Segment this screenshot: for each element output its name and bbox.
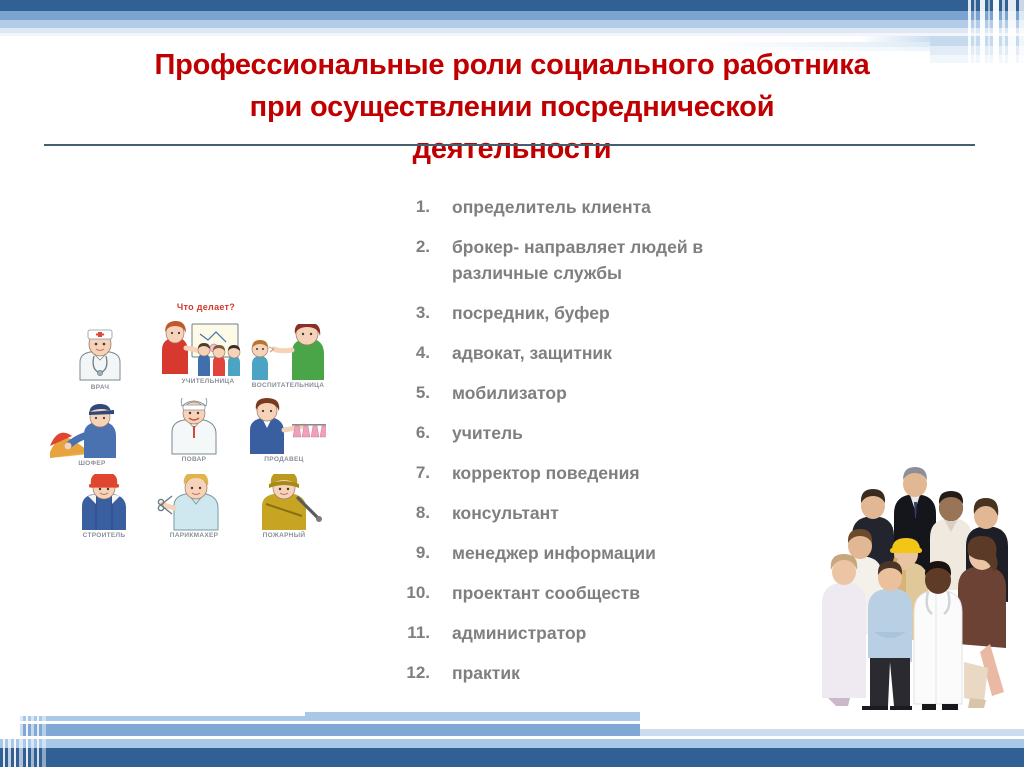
title-line-1: Профессиональные роли социального работн…	[40, 44, 984, 86]
profession-cell-salesperson: ПРОДАВЕЦ	[242, 398, 326, 470]
hairdresser-illustration	[152, 474, 236, 532]
list-item-label: корректор поведения	[452, 460, 640, 486]
list-item: 3. посредник, буфер	[390, 300, 810, 326]
bottom-band-left-medium	[20, 724, 640, 736]
list-item-number: 4.	[390, 340, 430, 366]
list-item-label: администратор	[452, 620, 586, 646]
profession-cell-hairdresser: ПАРИКМАХЕР	[152, 474, 236, 546]
list-item-label: менеджер информации	[452, 540, 656, 566]
title-line-3: деятельности	[40, 128, 984, 170]
roles-list: 1. определитель клиента 2. брокер- напра…	[390, 194, 810, 700]
profession-caption: СТРОИТЕЛЬ	[62, 532, 146, 539]
professions-grid-clipart: Что делает? ВРАЧ	[58, 302, 330, 550]
profession-cell-driver: ШОФЕР	[50, 402, 134, 474]
list-item-number: 9.	[390, 540, 430, 566]
profession-caption: ВОСПИТАТЕЛЬНИЦА	[246, 382, 330, 389]
list-item: 1. определитель клиента	[390, 194, 810, 220]
top-decoration-band	[0, 0, 1024, 36]
top-band-dark-blue	[0, 0, 1024, 11]
list-item-number: 11.	[390, 620, 430, 646]
profession-caption: ПРОДАВЕЦ	[242, 456, 326, 463]
list-item-label: мобилизатор	[452, 380, 567, 406]
profession-caption: ШОФЕР	[50, 460, 134, 467]
bottom-band-left-white-notch	[20, 712, 305, 716]
profession-caption: ПОЖАРНЫЙ	[242, 532, 326, 539]
list-item-number: 12.	[390, 660, 430, 686]
list-item-label: определитель клиента	[452, 194, 651, 220]
presentation-slide: Профессиональные роли социального работн…	[0, 0, 1024, 767]
list-item-label: брокер- направляет людей в различные слу…	[452, 234, 782, 286]
clipart-heading: Что делает?	[146, 302, 266, 312]
bottom-left-vertical-stripes	[0, 705, 60, 767]
list-item: 12. практик	[390, 660, 810, 686]
list-item-number: 7.	[390, 460, 430, 486]
list-item: 8. консультант	[390, 500, 810, 526]
list-item-label: консультант	[452, 500, 559, 526]
list-item-number: 2.	[390, 234, 430, 260]
list-item-number: 3.	[390, 300, 430, 326]
list-item-label: адвокат, защитник	[452, 340, 612, 366]
title-line-2: при осуществлении посреднической	[40, 86, 984, 128]
bottom-band-dark-blue	[0, 748, 1024, 767]
list-item-number: 6.	[390, 420, 430, 446]
list-item: 11. администратор	[390, 620, 810, 646]
profession-cell-doctor: ВРАЧ	[58, 326, 142, 398]
list-item-label: практик	[452, 660, 520, 686]
list-item: 7. корректор поведения	[390, 460, 810, 486]
slide-title: Профессиональные роли социального работн…	[40, 44, 984, 170]
list-item: 10. проектант сообществ	[390, 580, 810, 606]
group-photo-illustration	[818, 462, 1014, 710]
list-item: 4. адвокат, защитник	[390, 340, 810, 366]
list-item: 5. мобилизатор	[390, 380, 810, 406]
profession-cell-firefighter: ПОЖАРНЫЙ	[242, 474, 326, 546]
list-item-label: проектант сообществ	[452, 580, 640, 606]
bottom-band-light-blue	[0, 739, 1024, 748]
nursery-teacher-illustration	[246, 324, 330, 382]
profession-cell-nursery-teacher: ВОСПИТАТЕЛЬНИЦА	[246, 324, 330, 396]
top-band-light-blue	[0, 20, 1024, 28]
salesperson-illustration	[242, 398, 326, 456]
cook-illustration	[152, 398, 236, 456]
title-divider-rule	[44, 144, 975, 146]
list-item-number: 5.	[390, 380, 430, 406]
profession-cell-cook: ПОВАР	[152, 398, 236, 470]
top-band-medium-blue	[0, 11, 1024, 20]
list-item-label: учитель	[452, 420, 523, 446]
list-item-number: 8.	[390, 500, 430, 526]
list-item-number: 10.	[390, 580, 430, 606]
profession-caption: ПАРИКМАХЕР	[152, 532, 236, 539]
group-of-professionals-photo	[818, 462, 1014, 710]
firefighter-illustration	[242, 474, 326, 532]
builder-illustration	[62, 474, 146, 532]
list-item-number: 1.	[390, 194, 430, 220]
profession-caption: ВРАЧ	[58, 384, 142, 391]
list-item-label: посредник, буфер	[452, 300, 610, 326]
profession-caption: ПОВАР	[152, 456, 236, 463]
list-item: 2. брокер- направляет людей в различные …	[390, 234, 810, 286]
doctor-illustration	[58, 326, 142, 384]
driver-illustration	[50, 402, 134, 460]
list-item: 6. учитель	[390, 420, 810, 446]
list-item: 9. менеджер информации	[390, 540, 810, 566]
bottom-decoration-band	[0, 705, 1024, 767]
profession-cell-builder: СТРОИТЕЛЬ	[62, 474, 146, 546]
